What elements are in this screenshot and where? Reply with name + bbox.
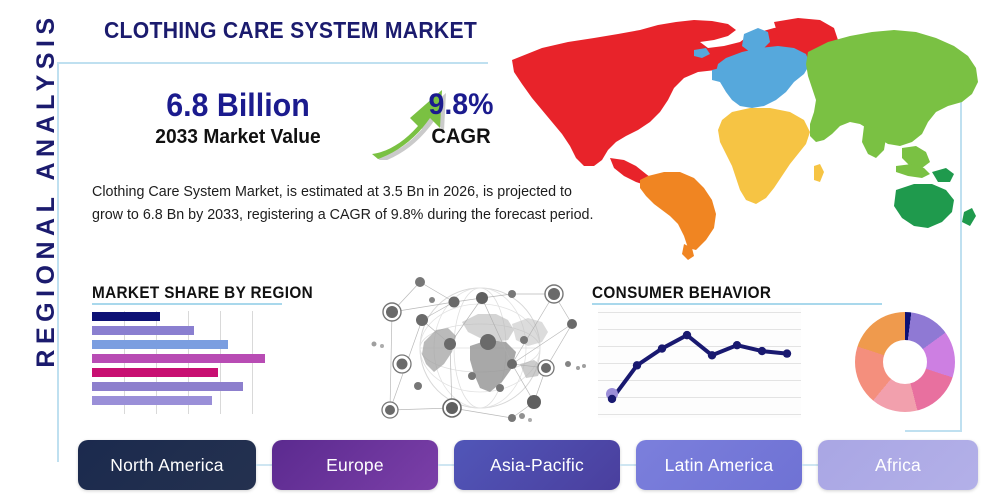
key-stats-row: 6.8 Billion 2033 Market Value 9.8% CAGR [78, 88, 498, 166]
page-title: CLOTHING CARE SYSTEM MARKET [104, 17, 477, 44]
line-marker [633, 361, 641, 369]
bar-item [92, 368, 218, 377]
global-network-icon [362, 268, 592, 431]
region-pill-label: North America [110, 455, 223, 476]
bar-item [92, 382, 243, 391]
region-pill-north-america[interactable]: North America [78, 440, 256, 490]
bar-fill [92, 396, 212, 405]
bar-item [92, 326, 194, 335]
region-pill-europe[interactable]: Europe [272, 440, 438, 490]
segment-donut-chart [855, 312, 955, 412]
line-marker [758, 347, 766, 355]
bar-item [92, 340, 228, 349]
market-value-label: 2033 Market Value [132, 124, 343, 150]
map-region-sea [902, 146, 930, 168]
map-region-madagascar [814, 164, 824, 182]
region-pill-africa[interactable]: Africa [818, 440, 978, 490]
line-marker [733, 341, 741, 349]
market-share-bar-chart [92, 311, 284, 414]
region-pill-label: Latin America [665, 455, 774, 476]
cagr-stat: 9.8% CAGR [396, 88, 526, 150]
line-marker [683, 331, 691, 339]
map-region-indonesia [896, 164, 930, 178]
section-title-consumer-behavior: CONSUMER BEHAVIOR [592, 283, 771, 303]
consumer-behavior-line-chart [598, 308, 801, 418]
bar-item [92, 354, 265, 363]
bar-fill [92, 340, 228, 349]
market-description: Clothing Care System Market, is estimate… [92, 181, 594, 227]
pill-connector [438, 464, 454, 466]
map-region-png [932, 168, 954, 182]
bar-fill [92, 368, 218, 377]
region-pill-asia-pacific[interactable]: Asia-Pacific [454, 440, 620, 490]
pill-connector [256, 464, 272, 466]
section-rule-market-share [92, 303, 282, 305]
region-pill-label: Africa [875, 455, 921, 476]
market-value-stat: 6.8 Billion 2033 Market Value [128, 88, 348, 150]
donut-center-hole [883, 340, 927, 384]
cagr-number: 9.8% [399, 88, 523, 122]
bar-fill [92, 312, 160, 321]
bar-fill [92, 326, 194, 335]
panel-bottom-right-edge [905, 430, 962, 432]
map-region-africa [718, 108, 810, 204]
line-marker [708, 351, 716, 359]
line-chart-series [598, 308, 801, 418]
region-pill-label: Europe [326, 455, 384, 476]
line-marker [658, 344, 666, 352]
line-marker [608, 395, 616, 403]
pill-connector [802, 464, 818, 466]
region-pill-label: Asia-Pacific [490, 455, 584, 476]
section-rule-consumer-behavior [592, 303, 882, 305]
bar-item [92, 396, 212, 405]
cagr-label: CAGR [399, 124, 524, 150]
region-pill-bar: North AmericaEuropeAsia-PacificLatin Ame… [78, 440, 978, 490]
market-value-number: 6.8 Billion [134, 88, 343, 122]
line-marker [783, 349, 791, 357]
map-region-south-america [640, 172, 716, 250]
bar-item [92, 312, 160, 321]
bar-fill [92, 354, 265, 363]
section-title-market-share: MARKET SHARE BY REGION [92, 283, 313, 303]
region-pill-latin-america[interactable]: Latin America [636, 440, 802, 490]
map-region-nz [962, 208, 976, 226]
bar-fill [92, 382, 243, 391]
pill-connector [620, 464, 636, 466]
map-region-australia [894, 184, 954, 228]
